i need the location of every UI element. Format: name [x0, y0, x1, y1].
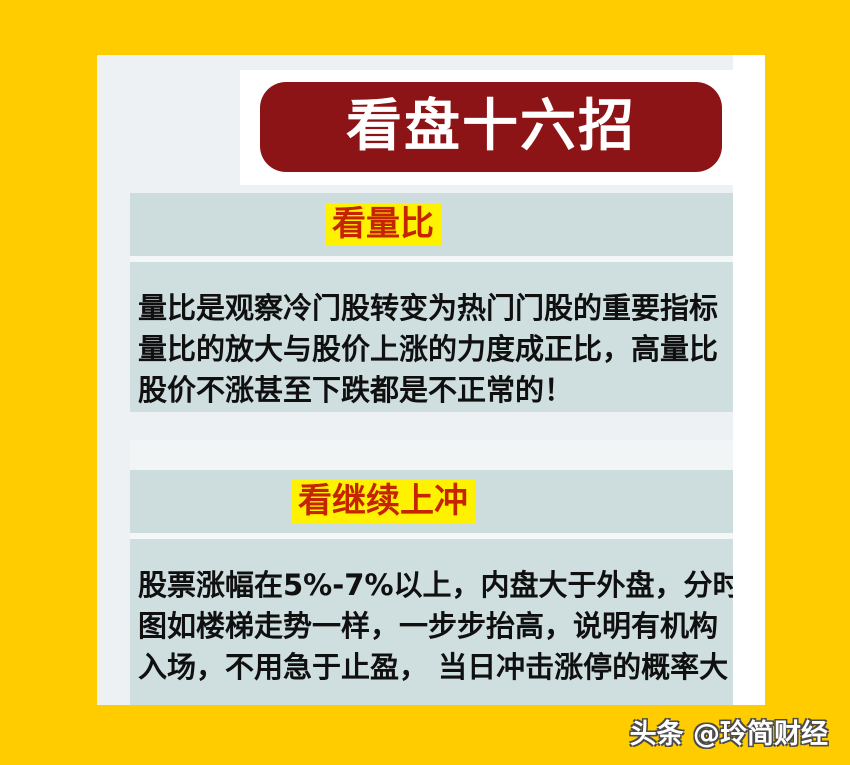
tip-header-label: 看量比: [325, 203, 441, 246]
title-badge: 看盘十六招: [260, 82, 722, 172]
tip-body-line: 量比的放大与股价上涨的力度成正比，高量比: [138, 329, 765, 370]
tip-body-line: 股价不涨甚至下跌都是不正常的！: [138, 370, 765, 411]
right-gutter: [733, 55, 765, 705]
tip-section-liangbi: 看量比 量比是观察冷门股转变为热门门股的重要指标 量比的放大与股价上涨的力度成正…: [130, 193, 765, 412]
tip-body: 量比是观察冷门股转变为热门门股的重要指标 量比的放大与股价上涨的力度成正比，高量…: [130, 262, 765, 412]
page-title: 看盘十六招: [346, 99, 636, 155]
content-panel: 看盘十六招 看量比 量比是观察冷门股转变为热门门股的重要指标 量比的放大与股价上…: [97, 55, 765, 705]
watermark: 头条 @玲简财经: [630, 712, 828, 751]
tip-header-band: 看继续上冲: [130, 470, 765, 533]
section-gap: [130, 440, 765, 470]
tip-body-line: 图如楼梯走势一样，一步步抬高，说明有机构: [138, 606, 765, 647]
tip-body-line: 股票涨幅在5%-7%以上，内盘大于外盘，分时: [138, 565, 765, 606]
tip-body: 股票涨幅在5%-7%以上，内盘大于外盘，分时 图如楼梯走势一样，一步步抬高，说明…: [130, 539, 765, 705]
tip-body-line: 入场，不用急于止盈， 当日冲击涨停的概率大: [138, 647, 765, 688]
tip-body-line: 量比是观察冷门股转变为热门门股的重要指标: [138, 288, 765, 329]
tip-header-label: 看继续上冲: [291, 480, 475, 523]
title-card: 看盘十六招: [240, 70, 742, 185]
tip-section-jixushangchong: 看继续上冲 股票涨幅在5%-7%以上，内盘大于外盘，分时 图如楼梯走势一样，一步…: [130, 470, 765, 705]
tip-header-band: 看量比: [130, 193, 765, 256]
